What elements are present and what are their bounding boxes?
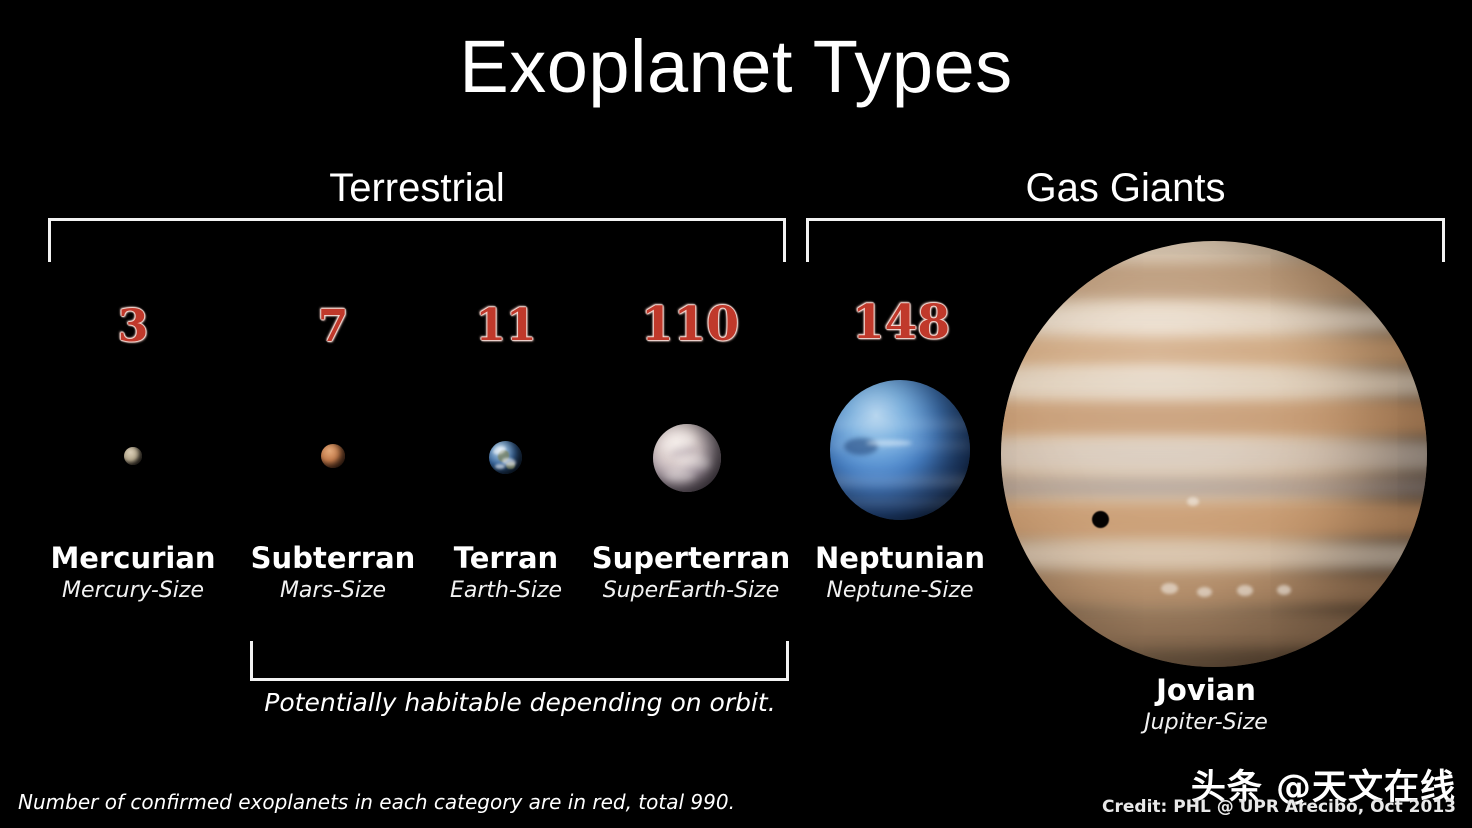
mars-planet-icon xyxy=(321,444,345,468)
superearth-planet-icon xyxy=(653,424,721,492)
jupiter-white-oval xyxy=(1161,583,1178,594)
count-neptunian: 148 xyxy=(838,299,964,346)
habitable-caption: Potentially habitable depending on orbit… xyxy=(190,688,850,718)
jupiter-planet-icon xyxy=(1001,241,1427,667)
neptune-cloud-streak xyxy=(866,440,912,446)
group-header-terrestrial: Terrestrial xyxy=(48,168,786,208)
jupiter-white-oval xyxy=(1197,587,1212,597)
count-terran: 11 xyxy=(446,304,566,348)
neptune-planet-icon xyxy=(830,380,970,520)
jupiter-white-oval xyxy=(1237,585,1253,596)
bracket-habitable-zone xyxy=(250,641,789,681)
jupiter-band xyxy=(1001,309,1427,331)
credit-line: Credit: PHL @ UPR Arecibo, Oct 2013 xyxy=(1102,797,1456,817)
planet-label-neptunian: Neptunian Neptune-Size xyxy=(780,543,1020,605)
great-red-spot xyxy=(1311,521,1373,563)
jupiter-band xyxy=(1001,575,1427,605)
earth-planet-icon xyxy=(489,441,522,474)
bracket-gas-giants xyxy=(806,218,1445,262)
group-header-gas-giants: Gas Giants xyxy=(806,168,1445,208)
jupiter-band xyxy=(1001,401,1427,435)
jupiter-band xyxy=(1001,441,1427,471)
neptune-band xyxy=(830,498,970,507)
jupiter-band xyxy=(1001,263,1427,299)
count-subterran: 7 xyxy=(273,305,393,349)
jupiter-band xyxy=(1001,477,1427,497)
page-title: Exoplanet Types xyxy=(0,30,1472,104)
moon-shadow xyxy=(1092,511,1109,528)
superearth-cloud xyxy=(665,469,695,482)
bracket-terrestrial xyxy=(48,218,786,262)
neptune-band xyxy=(830,476,970,487)
planet-name: Neptunian xyxy=(780,543,1020,574)
mercury-planet-icon xyxy=(124,447,142,465)
count-superterran: 110 xyxy=(630,301,750,348)
jupiter-band xyxy=(1001,371,1427,397)
footer-note: Number of confirmed exoplanets in each c… xyxy=(18,790,735,814)
planet-name: Jovian xyxy=(1086,675,1326,706)
jupiter-band xyxy=(1001,613,1427,647)
jupiter-white-oval xyxy=(1187,497,1199,506)
planet-size: Neptune-Size xyxy=(780,578,1020,604)
planet-label-jovian: Jovian Jupiter-Size xyxy=(1086,675,1326,737)
jupiter-band xyxy=(1001,337,1427,365)
jupiter-white-oval xyxy=(1277,585,1291,595)
neptune-band xyxy=(830,420,970,429)
earth-cloud xyxy=(495,464,505,469)
planet-size: Jupiter-Size xyxy=(1086,710,1326,736)
infographic-canvas: Exoplanet Types Terrestrial Gas Giants 3… xyxy=(0,0,1472,828)
count-mercurian: 3 xyxy=(73,305,193,349)
